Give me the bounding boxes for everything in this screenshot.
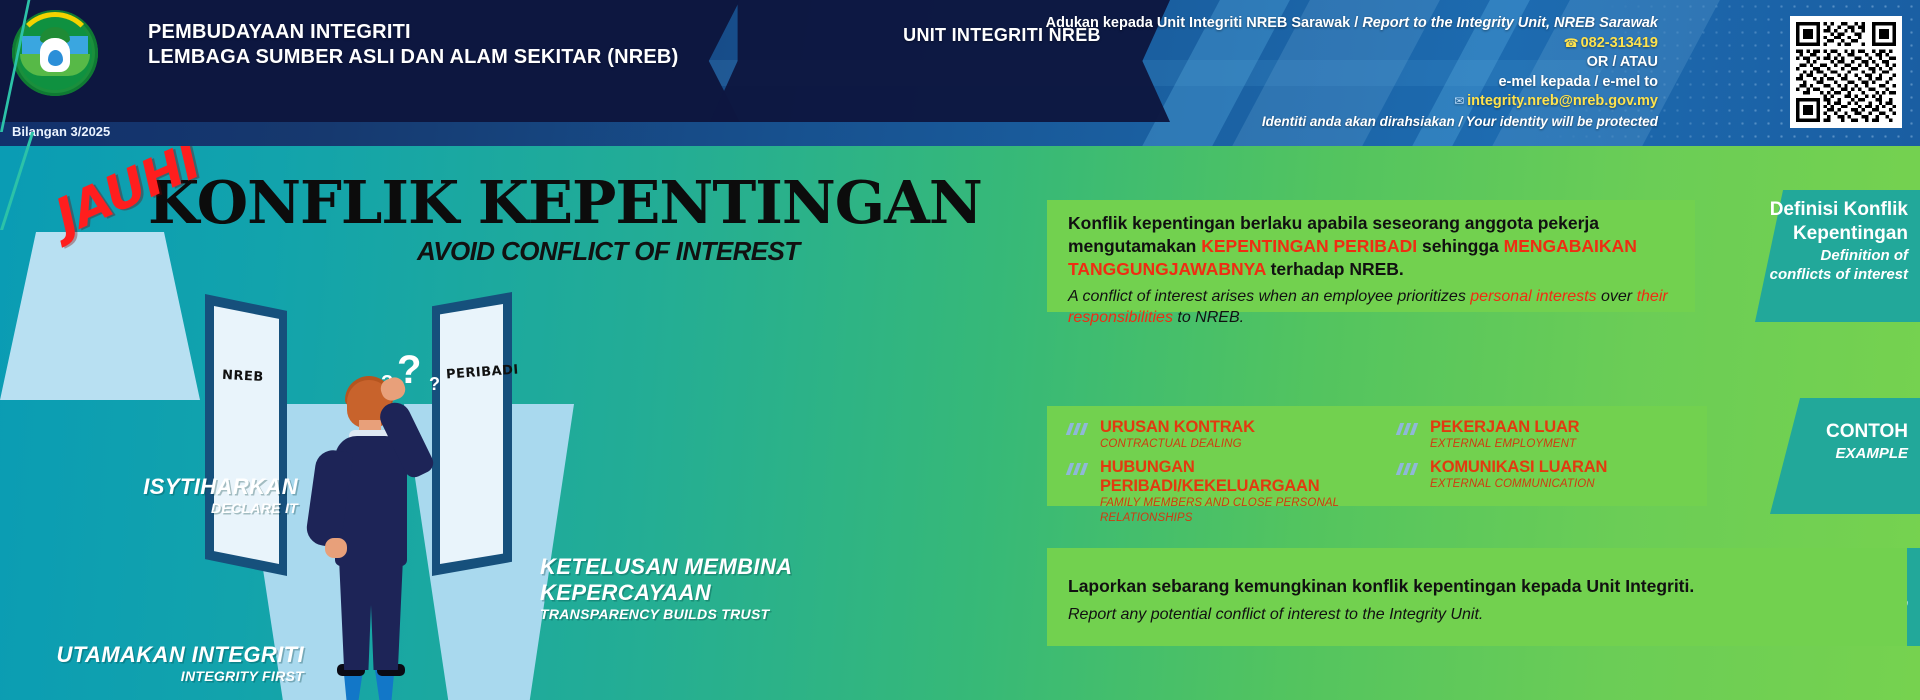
- example-column-left: URUSAN KONTRAK CONTRACTUAL DEALING HUBUN…: [1068, 418, 1368, 532]
- definition-en-part3: to NREB.: [1173, 309, 1244, 326]
- arrows-icon: [1068, 423, 1092, 435]
- action-body-en: Report any potential conflict of interes…: [1068, 606, 1483, 624]
- contact-separator: /: [1350, 15, 1362, 31]
- example-item-en: CONTRACTUAL DEALING: [1100, 437, 1368, 452]
- example-item-ms: KOMUNIKASI LUARAN: [1430, 458, 1698, 477]
- header-bar: PEMBUDAYAAN INTEGRITI LEMBAGA SUMBER ASL…: [0, 0, 1920, 146]
- slogan-integrity: UTAMAKAN INTEGRITI INTEGRITY FIRST: [24, 642, 304, 684]
- definition-ms-red1: KEPENTINGAN PERIBADI: [1201, 236, 1417, 256]
- contact-report-en: Report to the Integrity Unit, NREB Saraw…: [1362, 15, 1658, 31]
- definition-tab-label: Definisi Konflik Kepentingan Definition …: [1760, 198, 1908, 284]
- example-tab-en: EXAMPLE: [1770, 444, 1908, 463]
- slogan-transparency: KETELUSAN MEMBINA KEPERCAYAAN TRANSPAREN…: [540, 554, 870, 622]
- org-title-line1: PEMBUDAYAAN INTEGRITI: [148, 20, 678, 45]
- org-title-line2: LEMBAGA SUMBER ASLI DAN ALAM SEKITAR (NR…: [148, 45, 678, 70]
- infographic-poster: PEMBUDAYAAN INTEGRITI LEMBAGA SUMBER ASL…: [0, 0, 1920, 700]
- definition-ms-part2: sehingga: [1417, 236, 1504, 256]
- envelope-icon: ✉: [1454, 94, 1464, 108]
- arrows-icon: [1398, 423, 1422, 435]
- slogan-transparency-ms: KETELUSAN MEMBINA KEPERCAYAAN: [540, 554, 870, 606]
- contact-email[interactable]: integrity.nreb@nreb.gov.my: [1467, 93, 1658, 109]
- contact-phone[interactable]: 082-313419: [1581, 35, 1658, 51]
- door-nreb: [205, 294, 287, 576]
- page-title: KONFLIK KEPENTINGAN: [148, 168, 982, 237]
- contact-privacy-note: Identiti anda akan dirahsiakan / Your id…: [938, 112, 1658, 132]
- example-item-en: EXTERNAL COMMUNICATION: [1430, 477, 1698, 492]
- example-tab-ms: CONTOH: [1770, 420, 1908, 444]
- issue-number: Bilangan 3/2025: [12, 124, 110, 139]
- list-item: HUBUNGAN PERIBADI/KEKELUARGAAN FAMILY ME…: [1068, 458, 1368, 526]
- definition-en-part2: over: [1597, 288, 1637, 305]
- list-item: URUSAN KONTRAK CONTRACTUAL DEALING: [1068, 418, 1368, 452]
- contact-line-or: OR / ATAU: [938, 53, 1658, 73]
- example-item-ms: PEKERJAAN LUAR: [1430, 418, 1698, 437]
- example-item-ms: HUBUNGAN PERIBADI/KEKELUARGAAN: [1100, 458, 1368, 496]
- slogan-integrity-en: INTEGRITY FIRST: [24, 668, 304, 684]
- slogan-declare: ISYTIHARKAN DECLARE IT: [88, 474, 298, 516]
- definition-tab-ms: Definisi Konflik Kepentingan: [1760, 198, 1908, 246]
- contact-block: Adukan kepada Unit Integriti NREB Sarawa…: [938, 14, 1658, 131]
- example-column-right: PEKERJAAN LUAR EXTERNAL EMPLOYMENT KOMUN…: [1398, 418, 1698, 498]
- example-item-ms: URUSAN KONTRAK: [1100, 418, 1368, 437]
- example-item-en: EXTERNAL EMPLOYMENT: [1430, 437, 1698, 452]
- slogan-declare-en: DECLARE IT: [88, 500, 298, 516]
- definition-body-ms: Konflik kepentingan berlaku apabila sese…: [1068, 212, 1688, 281]
- contact-line-email: ✉integrity.nreb@nreb.gov.my: [938, 92, 1658, 112]
- light-beam-center: [0, 232, 200, 400]
- qr-code[interactable]: [1790, 16, 1902, 128]
- person-illustration: ? ? ?: [305, 350, 445, 686]
- illustration: NREB PERIBADI ? ? ? ISYTIHARKAN DECLARE …: [0, 232, 840, 700]
- action-body-ms: Laporkan sebarang kemungkinan konflik ke…: [1068, 576, 1694, 597]
- example-tab-label: CONTOH EXAMPLE: [1770, 420, 1908, 463]
- phone-icon: ☎: [1564, 36, 1579, 50]
- arrows-icon: [1068, 463, 1092, 475]
- organization-title: PEMBUDAYAAN INTEGRITI LEMBAGA SUMBER ASL…: [148, 20, 678, 70]
- example-item-en: FAMILY MEMBERS AND CLOSE PERSONAL RELATI…: [1100, 496, 1368, 526]
- action-panel: [1047, 548, 1907, 646]
- contact-line-email-label: e-mel kepada / e-mel to: [938, 73, 1658, 93]
- definition-body-en: A conflict of interest arises when an em…: [1068, 286, 1688, 328]
- contact-line-phone: ☎082-313419: [938, 34, 1658, 54]
- slogan-transparency-en: TRANSPARENCY BUILDS TRUST: [540, 606, 870, 622]
- question-mark-small: ?: [429, 374, 440, 395]
- contact-line-report: Adukan kepada Unit Integriti NREB Sarawa…: [938, 14, 1658, 34]
- contact-report-ms: Adukan kepada Unit Integriti NREB Sarawa…: [1046, 15, 1351, 31]
- arrows-icon: [1398, 463, 1422, 475]
- definition-en-red1: personal interests: [1470, 288, 1596, 305]
- list-item: KOMUNIKASI LUARAN EXTERNAL COMMUNICATION: [1398, 458, 1698, 492]
- door-left-label: NREB: [222, 368, 264, 385]
- slogan-integrity-ms: UTAMAKAN INTEGRITI: [24, 642, 304, 668]
- slogan-declare-ms: ISYTIHARKAN: [88, 474, 298, 500]
- list-item: PEKERJAAN LUAR EXTERNAL EMPLOYMENT: [1398, 418, 1698, 452]
- definition-en-part1: A conflict of interest arises when an em…: [1068, 288, 1470, 305]
- definition-tab-en: Definition of conflicts of interest: [1760, 246, 1908, 284]
- definition-ms-part3: terhadap NREB.: [1266, 259, 1404, 279]
